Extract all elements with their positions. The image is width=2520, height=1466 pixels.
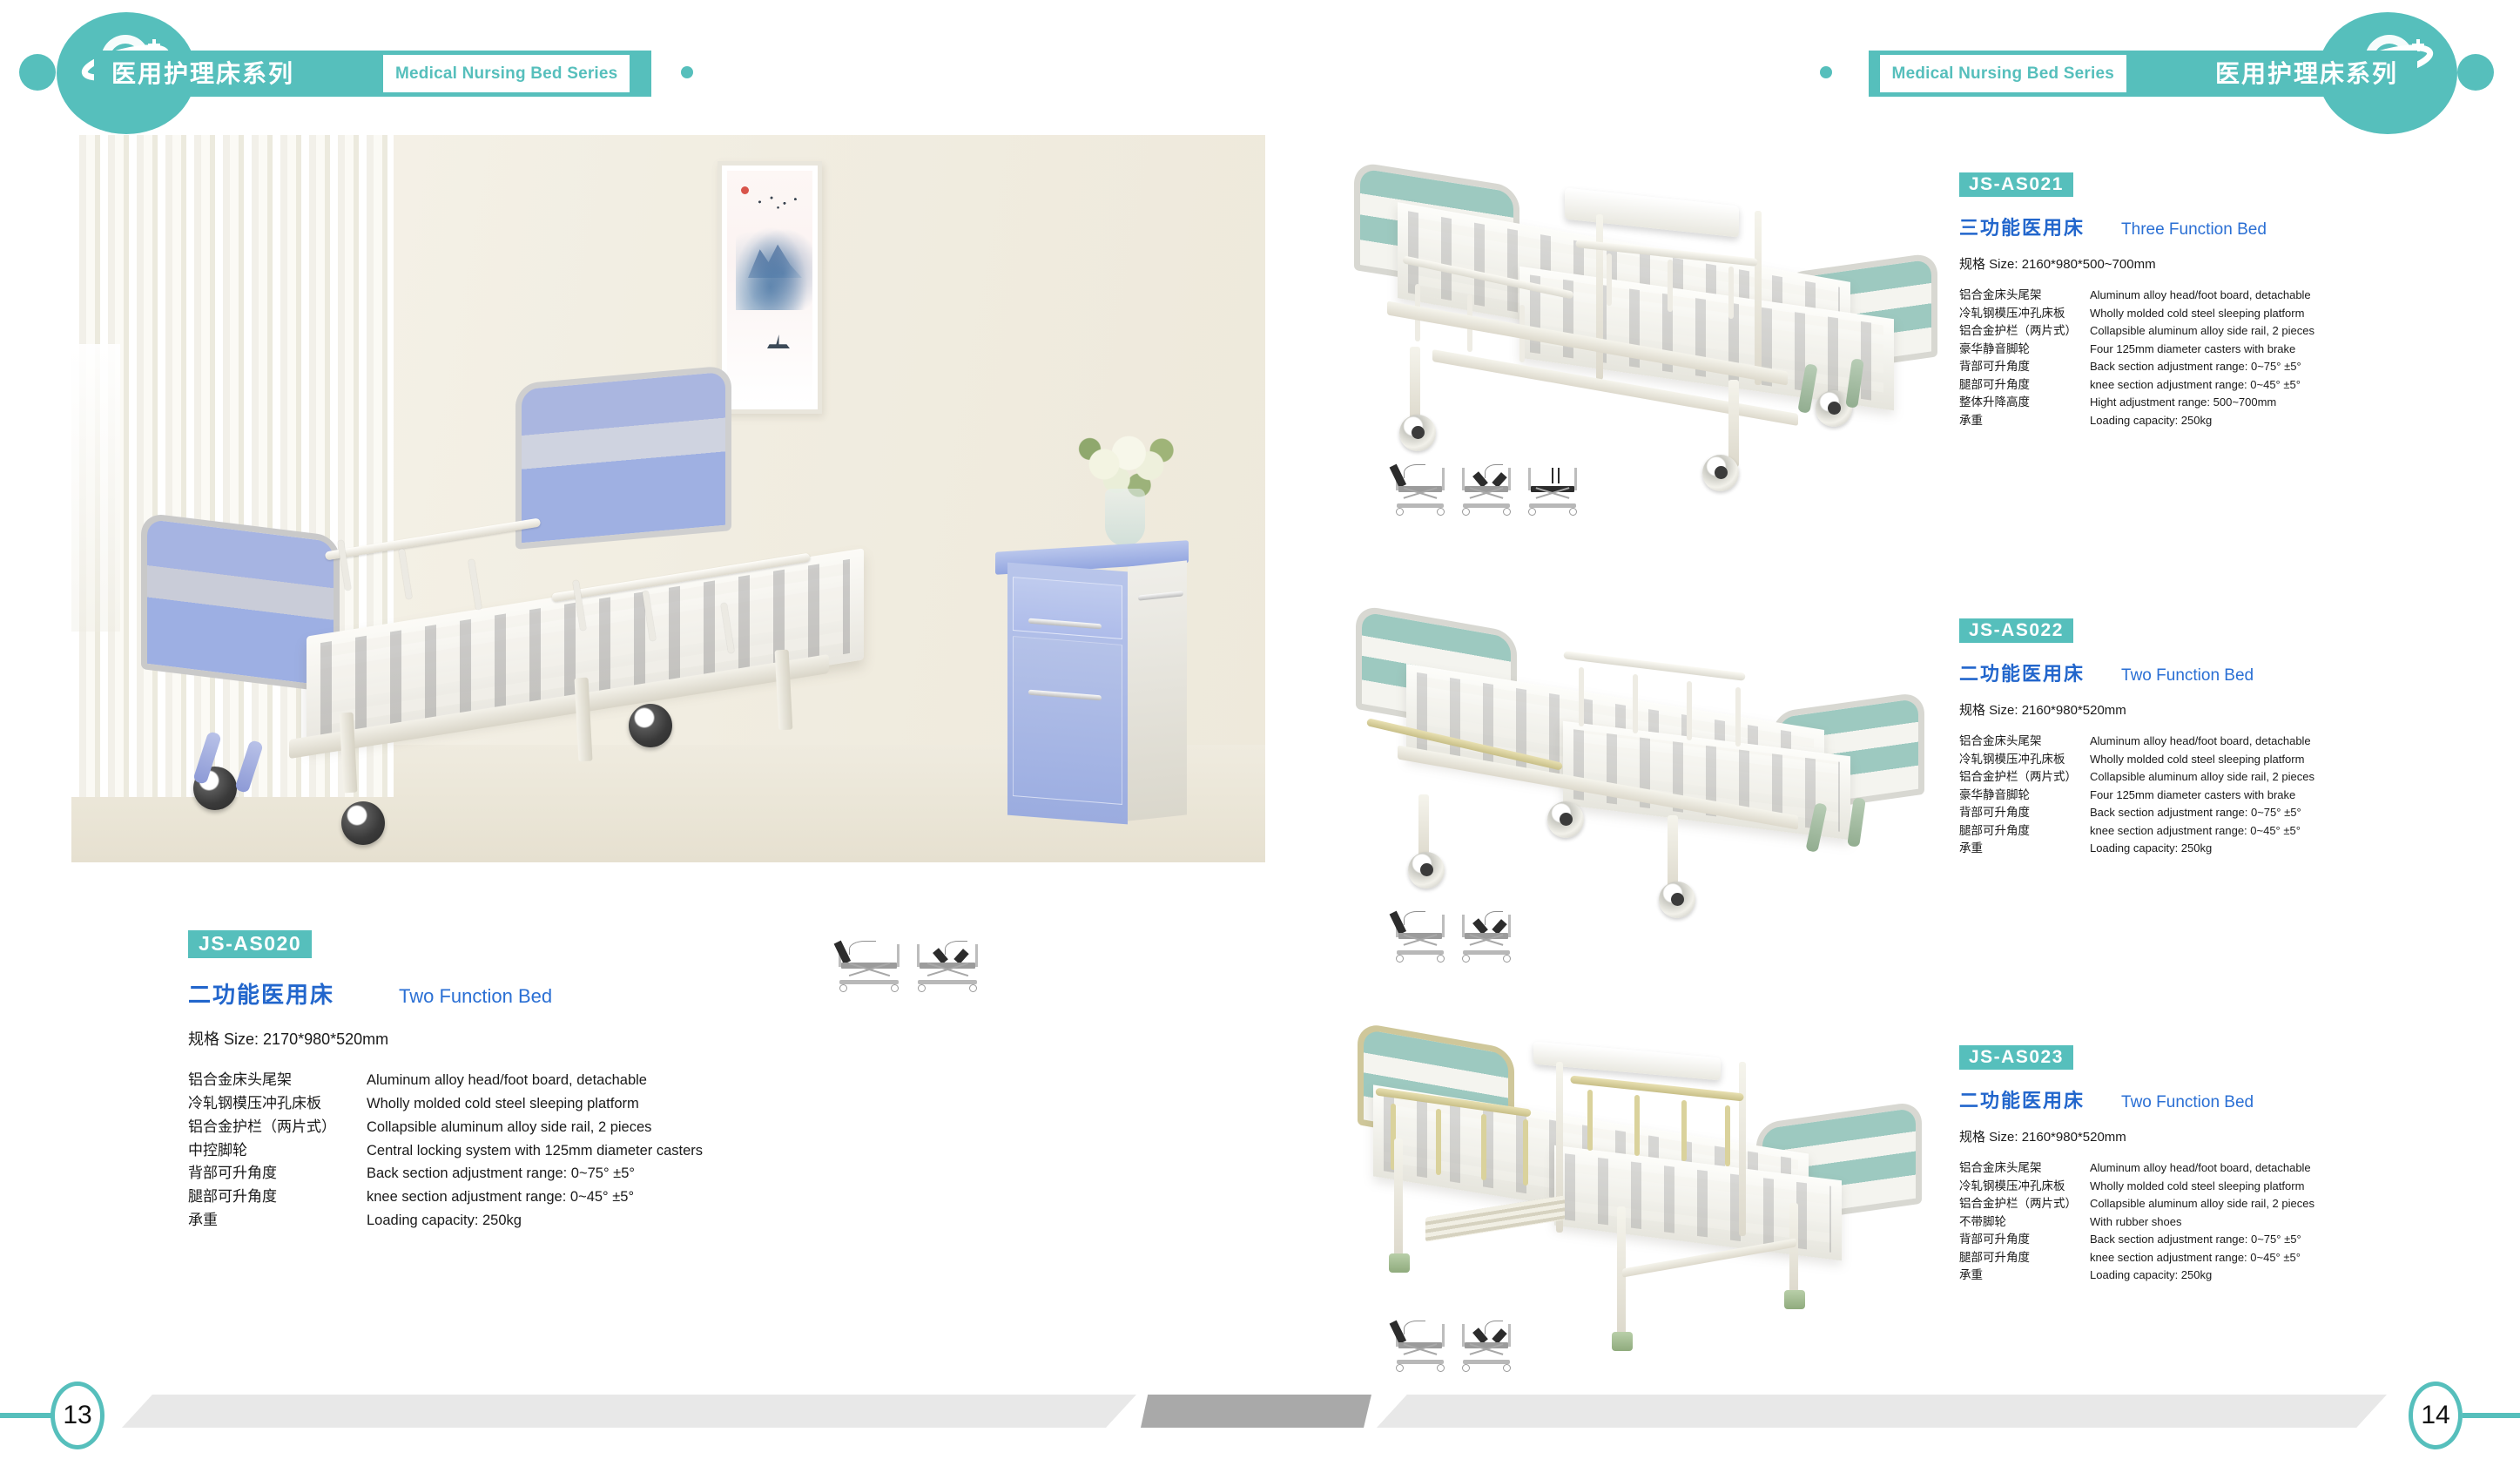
glass-vase	[1105, 489, 1145, 546]
header-cn-title: 医用护理床系列	[111, 56, 294, 91]
spec-en: Loading capacity: 250kg	[2090, 840, 2212, 858]
spec-cn: 铝合金床头尾架	[1959, 287, 2090, 305]
product-title-cn: 三功能医用床	[1959, 213, 2085, 240]
spec-table: 铝合金床头尾架Aluminum alloy head/foot board, d…	[1959, 733, 2499, 858]
spec-cn: 铝合金护栏（两片式）	[188, 1116, 367, 1139]
art-birds	[753, 195, 807, 218]
back-raise-diagram-icon	[836, 942, 902, 993]
hero-room-photo	[71, 135, 1265, 862]
spec-en: Wholly molded cold steel sleeping platfo…	[2090, 751, 2304, 769]
size-label: 规格 Size:	[1959, 257, 2018, 272]
window-light	[71, 344, 120, 632]
cabinet-door	[1013, 636, 1122, 805]
spec-row: 腿部可升角度knee section adjustment range: 0~4…	[1959, 822, 2499, 841]
spec-row: 腿部可升角度knee section adjustment range: 0~4…	[1959, 376, 2499, 395]
spec-row: 豪华静音脚轮Four 125mm diameter casters with b…	[1959, 341, 2499, 359]
art-sailboat	[767, 334, 790, 348]
bedside-cabinet	[1007, 546, 1177, 834]
product-title-en: Two Function Bed	[2121, 666, 2254, 686]
spec-en: Loading capacity: 250kg	[2090, 412, 2212, 430]
bed-caster	[1399, 415, 1436, 451]
spec-en: knee section adjustment range: 0~45° ±5°	[2090, 376, 2301, 395]
spec-row: 铝合金床头尾架Aluminum alloy head/foot board, d…	[1959, 287, 2499, 305]
spec-cn: 承重	[1959, 412, 2090, 430]
product-title-cn: 二功能医用床	[1959, 659, 2085, 686]
spec-en: Aluminum alloy head/foot board, detachab…	[2090, 287, 2311, 305]
under-bed-shelf	[1425, 1195, 1565, 1241]
spec-cn: 承重	[1959, 1267, 2090, 1285]
spec-en: Collapsible aluminum alloy side rail, 2 …	[2090, 768, 2314, 787]
rubber-shoe	[1784, 1290, 1805, 1309]
header-dot-small	[681, 66, 693, 78]
size-value: 2160*980*520mm	[2022, 1130, 2126, 1145]
bed-side-rail	[325, 518, 541, 561]
bed-headboard	[515, 365, 731, 550]
product-size-line: 规格 Size: 2170*980*520mm	[188, 1027, 850, 1050]
spec-row: 承重Loading capacity: 250kg	[1959, 412, 2499, 430]
spec-row: 腿部可升角度knee section adjustment range: 0~4…	[1959, 1249, 2499, 1267]
back-raise-diagram-icon	[1393, 475, 1447, 517]
spec-en: Back section adjustment range: 0~75° ±5°	[2090, 804, 2301, 822]
header-cn-title: 医用护理床系列	[2215, 56, 2398, 91]
wall-art-frame	[718, 161, 822, 414]
rail-post	[399, 549, 413, 599]
spec-cn: 背部可升角度	[188, 1162, 367, 1186]
spec-cn: 背部可升角度	[1959, 804, 2090, 822]
footer-right: 14	[1260, 1361, 2520, 1466]
spec-row: 铝合金护栏（两片式）Collapsible aluminum alloy sid…	[1959, 768, 2499, 787]
spec-row: 铝合金护栏（两片式）Collapsible aluminum alloy sid…	[188, 1116, 850, 1139]
spec-en: Loading capacity: 250kg	[2090, 1267, 2212, 1285]
header-en-box: Medical Nursing Bed Series	[1880, 55, 2126, 92]
product-block-as023: JS-AS023 二功能医用床 Two Function Bed 规格 Size…	[1959, 1045, 2499, 1285]
spec-cn: 背部可升角度	[1959, 358, 2090, 376]
spec-cn: 不带脚轮	[1959, 1213, 2090, 1232]
product-code-badge: JS-AS023	[1959, 1045, 2073, 1070]
function-diagrams-as021	[1393, 475, 1580, 517]
product-title-en: Three Function Bed	[2121, 220, 2267, 240]
product-code-badge: JS-AS022	[1959, 618, 2073, 643]
spec-cn: 腿部可升角度	[1959, 376, 2090, 395]
product-size-line: 规格 Size: 2160*980*520mm	[1959, 1127, 2499, 1145]
bed-caster	[1702, 455, 1739, 491]
spec-en: Collapsible aluminum alloy side rail, 2 …	[2090, 1195, 2314, 1213]
page-number-right: 14	[2409, 1382, 2463, 1449]
footer-band-dark	[1141, 1395, 1260, 1428]
page-number-left: 13	[51, 1382, 104, 1449]
spec-en: Hight adjustment range: 500~700mm	[2090, 394, 2276, 412]
spec-cn: 中控脚轮	[188, 1139, 367, 1163]
header-dot-large	[2457, 54, 2494, 91]
product-title-row: 二功能医用床 Two Function Bed	[1959, 1085, 2499, 1113]
spec-cn: 腿部可升角度	[188, 1186, 367, 1209]
spec-row: 承重Loading capacity: 250kg	[188, 1209, 850, 1233]
spec-row: 承重Loading capacity: 250kg	[1959, 840, 2499, 858]
size-value: 2160*980*500~700mm	[2022, 257, 2156, 272]
spec-en: Wholly molded cold steel sleeping platfo…	[367, 1092, 639, 1116]
bed-leg	[1410, 347, 1420, 423]
bed-caster	[1547, 801, 1584, 838]
bed-caster	[1659, 882, 1695, 918]
cabinet-side-panel	[1128, 560, 1187, 821]
table-leg	[1739, 1062, 1746, 1236]
spec-en: Back section adjustment range: 0~75° ±5°	[2090, 358, 2301, 376]
product-title-row: 二功能医用床 Two Function Bed	[1959, 659, 2499, 686]
product-title-row: 三功能医用床 Three Function Bed	[1959, 213, 2499, 240]
spec-row: 承重Loading capacity: 250kg	[1959, 1267, 2499, 1285]
function-diagrams-as020	[836, 942, 980, 993]
spec-table: 铝合金床头尾架Aluminum alloy head/foot board, d…	[1959, 287, 2499, 429]
product-size-line: 规格 Size: 2160*980*520mm	[1959, 700, 2499, 719]
footer-band-light	[1377, 1395, 2387, 1428]
spec-row: 冷轧钢模压冲孔床板Wholly molded cold steel sleepi…	[1959, 305, 2499, 323]
knee-raise-diagram-icon	[914, 942, 980, 993]
product-title-en: Two Function Bed	[399, 985, 552, 1008]
header-left: 医用护理床系列 Medical Nursing Bed Series	[0, 0, 1260, 131]
header-dot-small	[1820, 66, 1832, 78]
spec-cn: 整体升降高度	[1959, 394, 2090, 412]
spec-row: 铝合金护栏（两片式）Collapsible aluminum alloy sid…	[1959, 1195, 2499, 1213]
header-en-box: Medical Nursing Bed Series	[383, 55, 630, 92]
rubber-shoe	[1389, 1253, 1410, 1273]
spec-en: With rubber shoes	[2090, 1213, 2182, 1232]
spec-en: Four 125mm diameter casters with brake	[2090, 787, 2295, 805]
product-size-line: 规格 Size: 2160*980*500~700mm	[1959, 254, 2499, 273]
art-mountains	[736, 219, 812, 310]
spec-row: 冷轧钢模压冲孔床板Wholly molded cold steel sleepi…	[188, 1092, 850, 1116]
spec-cn: 铝合金护栏（两片式）	[1959, 768, 2090, 787]
page-connector-line	[0, 1413, 54, 1418]
footer-band-light	[122, 1395, 1136, 1428]
back-raise-diagram-icon	[1393, 922, 1447, 963]
spec-row: 中控脚轮Central locking system with 125mm di…	[188, 1139, 850, 1163]
size-label: 规格 Size:	[188, 1030, 259, 1048]
product-title-en: Two Function Bed	[2121, 1093, 2254, 1112]
bed-caster	[341, 801, 385, 845]
rail-post	[468, 559, 482, 610]
function-diagrams-as022	[1393, 922, 1513, 963]
spec-en: knee section adjustment range: 0~45° ±5°	[367, 1186, 634, 1209]
overbed-table	[1565, 187, 1739, 237]
product-photo-as023	[1345, 1032, 1955, 1381]
header-right: 医用护理床系列 Medical Nursing Bed Series	[1260, 0, 2520, 131]
size-value: 2170*980*520mm	[263, 1030, 388, 1048]
product-code-badge: JS-AS020	[188, 930, 312, 958]
spec-cn: 冷轧钢模压冲孔床板	[1959, 305, 2090, 323]
spec-cn: 背部可升角度	[1959, 1231, 2090, 1249]
spec-row: 豪华静音脚轮Four 125mm diameter casters with b…	[1959, 787, 2499, 805]
spec-cn: 铝合金床头尾架	[1959, 733, 2090, 751]
product-block-as020: JS-AS020 二功能医用床 Two Function Bed 规格 Size…	[188, 930, 850, 1233]
spec-cn: 腿部可升角度	[1959, 1249, 2090, 1267]
spec-en: Wholly molded cold steel sleeping platfo…	[2090, 305, 2304, 323]
product-title-cn: 二功能医用床	[1959, 1085, 2085, 1113]
bed-caster	[1408, 852, 1445, 888]
spec-row: 背部可升角度Back section adjustment range: 0~7…	[1959, 804, 2499, 822]
product-title-cn: 二功能医用床	[188, 977, 334, 1010]
bed-caster	[629, 704, 672, 747]
wall-art-canvas	[727, 171, 812, 404]
product-block-as022: JS-AS022 二功能医用床 Two Function Bed 规格 Size…	[1959, 618, 2499, 858]
spec-table: 铝合金床头尾架Aluminum alloy head/foot board, d…	[188, 1069, 850, 1233]
catalog-spread: 医用护理床系列 Medical Nursing Bed Series 医用护理床…	[0, 0, 2520, 1466]
bed-leg	[1789, 1203, 1798, 1294]
bed-leg	[1668, 815, 1678, 892]
spec-row: 铝合金床头尾架Aluminum alloy head/foot board, d…	[1959, 733, 2499, 751]
header-dot-large	[19, 54, 56, 91]
spec-cn: 豪华静音脚轮	[1959, 787, 2090, 805]
header-en-title: Medical Nursing Bed Series	[395, 64, 617, 84]
spec-row: 冷轧钢模压冲孔床板Wholly molded cold steel sleepi…	[1959, 1178, 2499, 1196]
spec-en: Wholly molded cold steel sleeping platfo…	[2090, 1178, 2304, 1196]
spec-cn: 承重	[1959, 840, 2090, 858]
cabinet-drawer	[1013, 577, 1122, 639]
art-sun	[741, 186, 749, 194]
bed-leg	[1728, 380, 1739, 467]
footer-left: 13	[0, 1361, 1260, 1466]
product-code-badge: JS-AS021	[1959, 172, 2073, 197]
spec-cn: 铝合金护栏（两片式）	[1959, 322, 2090, 341]
spec-row: 铝合金床头尾架Aluminum alloy head/foot board, d…	[188, 1069, 850, 1092]
product-photo-as022	[1345, 610, 1946, 958]
product-title-row: 二功能医用床 Two Function Bed	[188, 977, 850, 1010]
page-connector-line	[2463, 1413, 2520, 1418]
spec-en: Collapsible aluminum alloy side rail, 2 …	[2090, 322, 2314, 341]
hero-nursing-bed	[124, 479, 907, 845]
spec-en: Aluminum alloy head/foot board, detachab…	[367, 1069, 647, 1092]
spec-cn: 豪华静音脚轮	[1959, 341, 2090, 359]
table-leg	[1755, 211, 1762, 385]
spec-cn: 铝合金护栏（两片式）	[1959, 1195, 2090, 1213]
knee-raise-diagram-icon	[1459, 475, 1513, 517]
rubber-shoe	[1612, 1332, 1633, 1351]
spec-cn: 承重	[188, 1209, 367, 1233]
product-photo-as021	[1345, 162, 1937, 528]
spec-cn: 铝合金床头尾架	[1959, 1159, 2090, 1178]
height-adjust-diagram-icon	[1526, 475, 1580, 517]
size-label: 规格 Size:	[1959, 703, 2018, 718]
knee-raise-diagram-icon	[1459, 922, 1513, 963]
spec-table: 铝合金床头尾架Aluminum alloy head/foot board, d…	[1959, 1159, 2499, 1285]
brake-pedal	[234, 740, 264, 794]
spec-en: Central locking system with 125mm diamet…	[367, 1139, 703, 1163]
bed-leg	[1394, 1138, 1403, 1257]
spec-en: Collapsible aluminum alloy side rail, 2 …	[367, 1116, 651, 1139]
spec-row: 腿部可升角度knee section adjustment range: 0~4…	[188, 1186, 850, 1209]
spec-en: Loading capacity: 250kg	[367, 1209, 522, 1233]
spec-row: 背部可升角度Back section adjustment range: 0~7…	[188, 1162, 850, 1186]
spec-row: 铝合金床头尾架Aluminum alloy head/foot board, d…	[1959, 1159, 2499, 1178]
spec-en: knee section adjustment range: 0~45° ±5°	[2090, 1249, 2301, 1267]
spec-row: 不带脚轮With rubber shoes	[1959, 1213, 2499, 1232]
spec-en: Aluminum alloy head/foot board, detachab…	[2090, 1159, 2311, 1178]
spec-row: 整体升降高度Hight adjustment range: 500~700mm	[1959, 394, 2499, 412]
spec-row: 铝合金护栏（两片式）Collapsible aluminum alloy sid…	[1959, 322, 2499, 341]
spec-en: Back section adjustment range: 0~75° ±5°	[367, 1162, 635, 1186]
spec-cn: 冷轧钢模压冲孔床板	[1959, 751, 2090, 769]
bed-leg	[1418, 794, 1429, 861]
spec-cn: 冷轧钢模压冲孔床板	[1959, 1178, 2090, 1196]
footer-band-dark	[1260, 1395, 1371, 1428]
spec-en: Back section adjustment range: 0~75° ±5°	[2090, 1231, 2301, 1249]
bed-side-rail	[1563, 651, 1746, 681]
header-en-title: Medical Nursing Bed Series	[1892, 64, 2114, 84]
table-leg	[1596, 214, 1603, 380]
product-block-as021: JS-AS021 三功能医用床 Three Function Bed 规格 Si…	[1959, 172, 2499, 429]
spec-row: 背部可升角度Back section adjustment range: 0~7…	[1959, 358, 2499, 376]
spec-en: Four 125mm diameter casters with brake	[2090, 341, 2295, 359]
size-label: 规格 Size:	[1959, 1130, 2018, 1145]
spec-cn: 腿部可升角度	[1959, 822, 2090, 841]
spec-row: 冷轧钢模压冲孔床板Wholly molded cold steel sleepi…	[1959, 751, 2499, 769]
spec-en: Aluminum alloy head/foot board, detachab…	[2090, 733, 2311, 751]
size-value: 2160*980*520mm	[2022, 703, 2126, 718]
spec-en: knee section adjustment range: 0~45° ±5°	[2090, 822, 2301, 841]
spec-cn: 冷轧钢模压冲孔床板	[188, 1092, 367, 1116]
spec-row: 背部可升角度Back section adjustment range: 0~7…	[1959, 1231, 2499, 1249]
spec-cn: 铝合金床头尾架	[188, 1069, 367, 1092]
